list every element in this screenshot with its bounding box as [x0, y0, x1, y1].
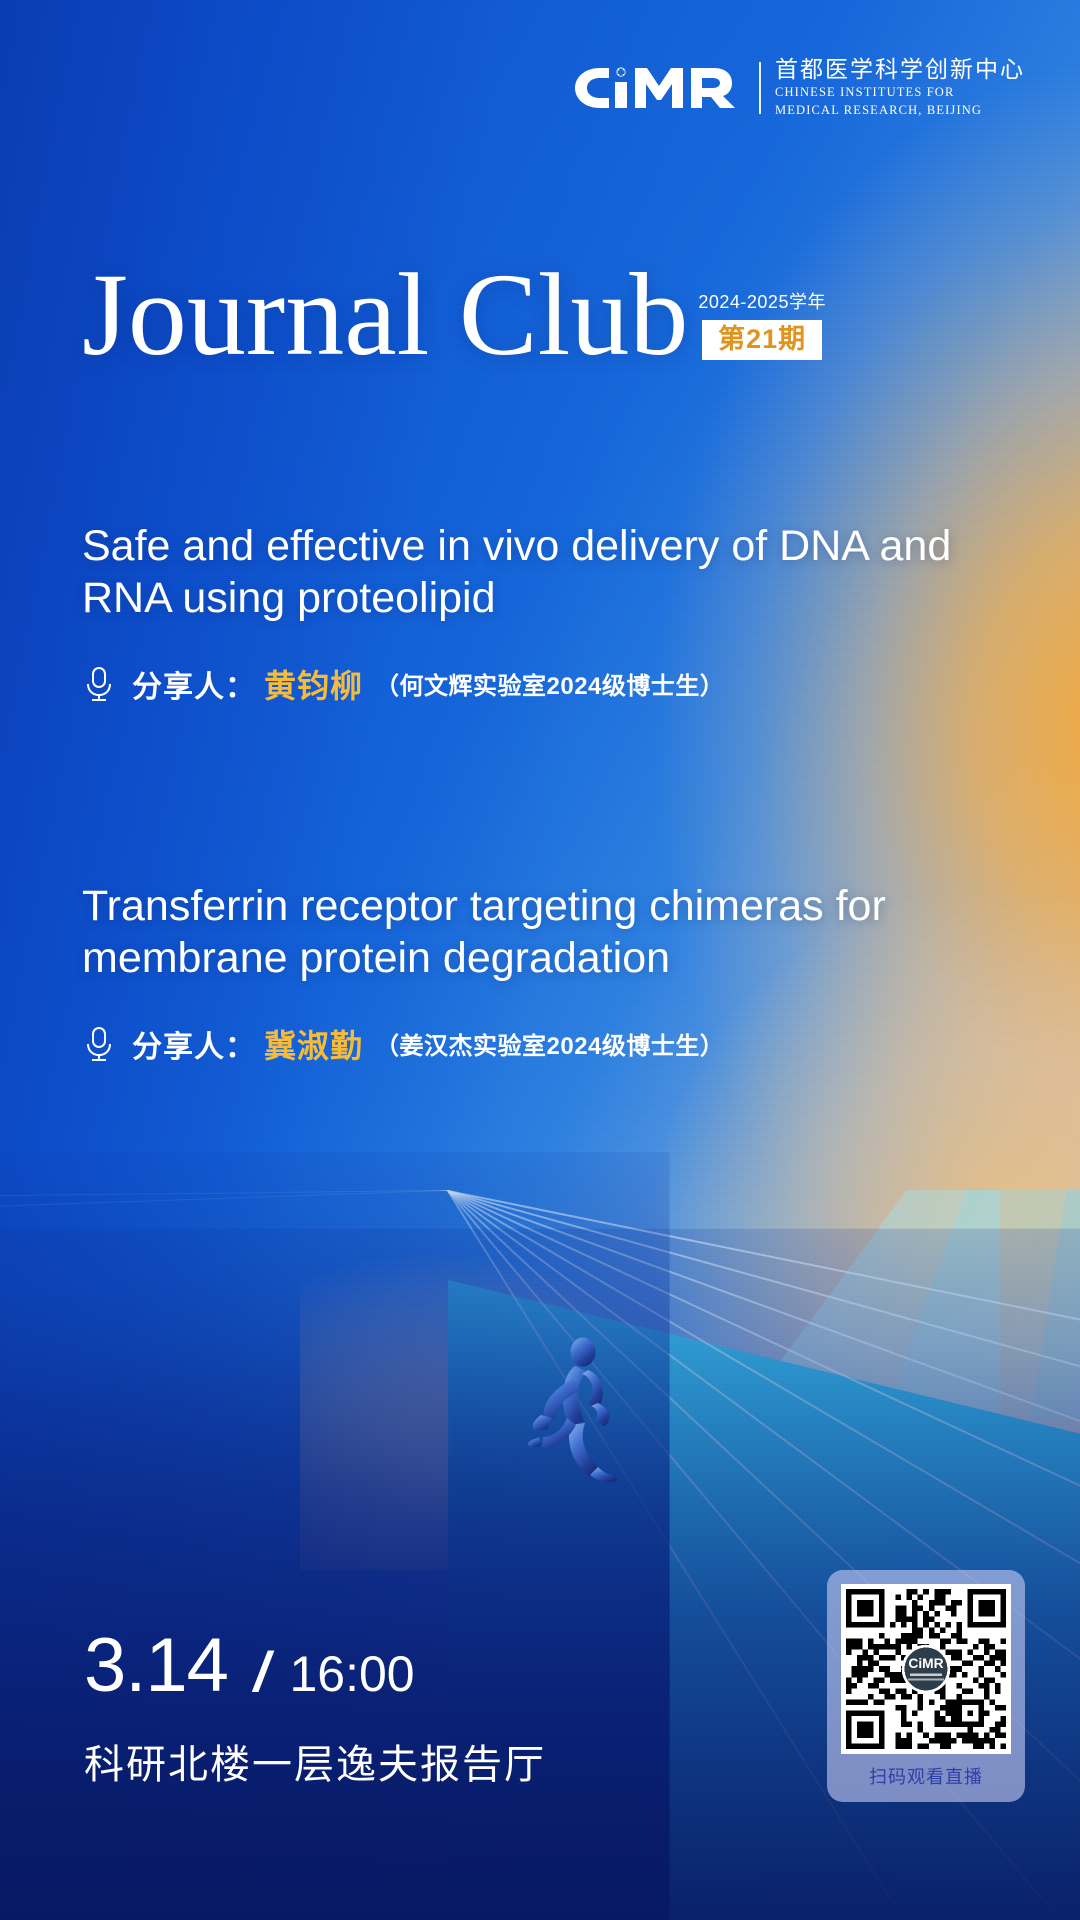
- date-time-row: 3.14 / 16:00: [84, 1628, 546, 1704]
- logo-text-block: 首都医学科学创新中心 CHINESE INSTITUTES FOR MEDICA…: [775, 58, 1025, 118]
- event-time: 16:00: [289, 1649, 414, 1699]
- issue-number-badge: 第21期: [702, 320, 822, 360]
- logo-chinese-name: 首都医学科学创新中心: [775, 58, 1025, 82]
- paper-title-2: Transferrin receptor targeting chimeras …: [82, 880, 1042, 985]
- session-block-1: Safe and effective in vivo delivery of D…: [82, 520, 1042, 707]
- event-venue: 科研北楼一层逸夫报告厅: [84, 1732, 546, 1790]
- footer-block: 3.14 / 16:00 科研北楼一层逸夫报告厅: [84, 1628, 546, 1790]
- paper-title-1: Safe and effective in vivo delivery of D…: [82, 520, 1042, 625]
- logo-english-line-2: MEDICAL RESEARCH, BEIJING: [775, 102, 1025, 118]
- speaker-name-1: 黄钧柳: [264, 661, 363, 707]
- logo-english-line-1: CHINESE INSTITUTES FOR: [775, 84, 1025, 100]
- poster-canvas: 首都医学科学创新中心 CHINESE INSTITUTES FOR MEDICA…: [0, 0, 1080, 1920]
- speaker-affiliation-2: （姜汉杰实验室2024级博士生）: [375, 1026, 724, 1061]
- logo-divider: [759, 62, 761, 114]
- academic-year-label: 2024-2025学年: [698, 288, 826, 314]
- speaker-name-2: 冀淑勤: [264, 1021, 363, 1067]
- page-title: Journal Club: [82, 256, 688, 374]
- poster-content: 首都医学科学创新中心 CHINESE INSTITUTES FOR MEDICA…: [0, 0, 1080, 1920]
- speaker-label-1: 分享人：: [132, 662, 256, 706]
- speaker-label-2: 分享人：: [132, 1022, 256, 1066]
- journal-club-title-row: Journal Club 2024-2025学年 第21期: [82, 256, 826, 374]
- speaker-affiliation-1: （何文辉实验室2024级博士生）: [375, 666, 724, 701]
- cimr-logo-mark: [567, 60, 745, 116]
- microphone-icon: [82, 665, 116, 703]
- speaker-row-2: 分享人： 冀淑勤 （姜汉杰实验室2024级博士生）: [82, 1021, 1042, 1067]
- session-block-2: Transferrin receptor targeting chimeras …: [82, 880, 1042, 1067]
- cimr-wordmark-icon: [567, 60, 745, 116]
- speaker-row-1: 分享人： 黄钧柳 （何文辉实验室2024级博士生）: [82, 661, 1042, 707]
- event-date: 3.14: [84, 1628, 228, 1704]
- qr-code-icon[interactable]: CiMR: [841, 1584, 1011, 1754]
- qr-caption: 扫码观看直播: [869, 1763, 983, 1789]
- issue-badge-group: 2024-2025学年 第21期: [698, 288, 826, 360]
- livestream-qr-card[interactable]: CiMR 扫码观看直播: [827, 1570, 1025, 1802]
- date-time-separator: /: [254, 1644, 270, 1700]
- cimr-logo-block[interactable]: 首都医学科学创新中心 CHINESE INSTITUTES FOR MEDICA…: [567, 58, 1025, 118]
- svg-text:CiMR: CiMR: [908, 1656, 943, 1671]
- microphone-icon: [82, 1025, 116, 1063]
